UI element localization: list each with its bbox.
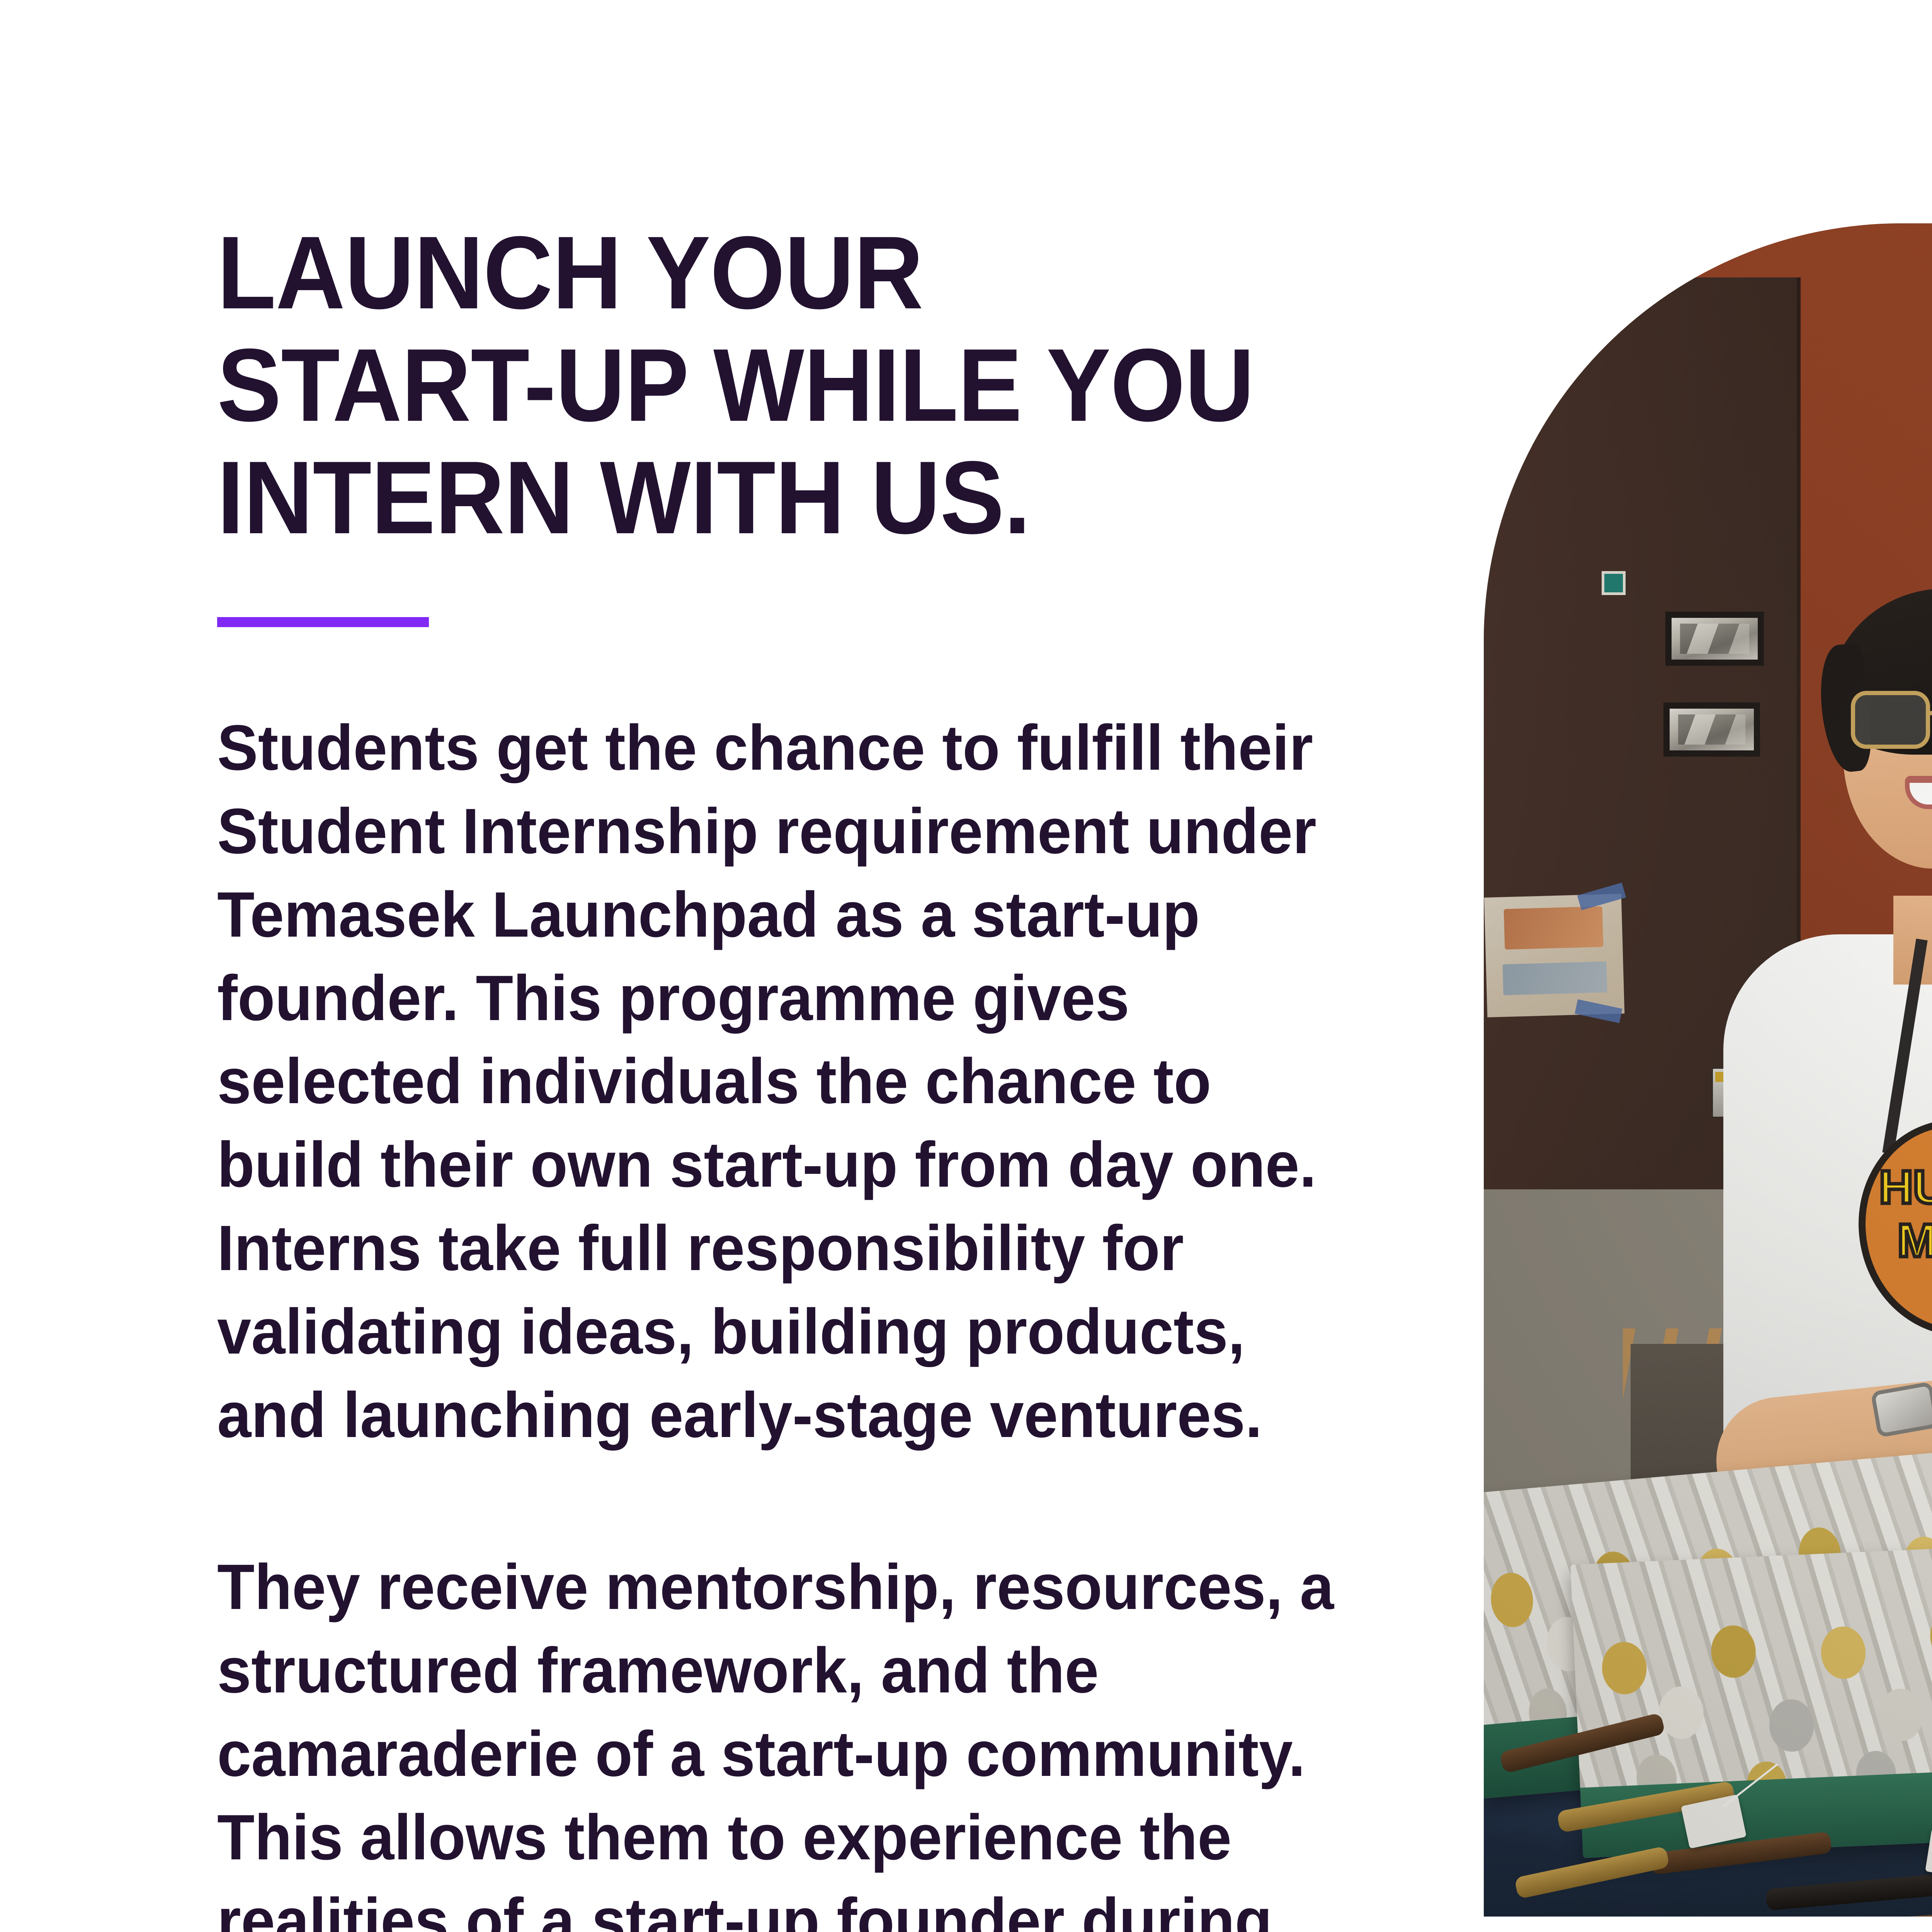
paragraph-1: Students get the chance to fulfill their… (217, 706, 1369, 1457)
page-title: LAUNCH YOUR START-UP WHILE YOU INTERN WI… (217, 216, 1385, 553)
accent-divider (217, 617, 429, 627)
shirt-print-line-1: HUMAN (1879, 1166, 1932, 1209)
hero-photo: BUSINESS PLAY THE BUSINESS NEVER LOSE IN… (1484, 223, 1932, 1917)
headline-line-2: START-UP WHILE YOU (217, 329, 1385, 441)
slide-canvas: LAUNCH YOUR START-UP WHILE YOU INTERN WI… (0, 0, 1932, 1932)
glasses-icon (1851, 691, 1932, 749)
framed-photo (1665, 612, 1764, 666)
text-column: LAUNCH YOUR START-UP WHILE YOU INTERN WI… (217, 216, 1384, 1932)
headline-line-1: LAUNCH YOUR (217, 216, 1385, 329)
human-made-shirt-graphic: HUMAN MADE (1859, 1120, 1932, 1336)
shirt-print-line-2: MADE (1879, 1219, 1932, 1262)
framed-photo (1663, 702, 1760, 757)
teal-wall-sign (1602, 571, 1626, 595)
paragraph-2: They receive mentorship, resources, a st… (217, 1546, 1369, 1932)
vintage-poster (1484, 894, 1625, 1017)
headline-line-3: INTERN WITH US. (217, 441, 1385, 554)
body-copy: Students get the chance to fulfill their… (217, 706, 1376, 1932)
